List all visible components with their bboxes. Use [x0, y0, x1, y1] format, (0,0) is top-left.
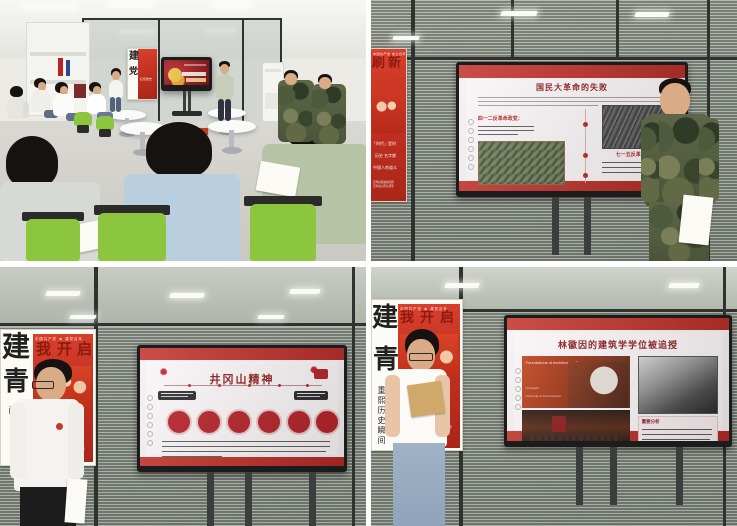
window-frame: [511, 0, 514, 58]
shelf-book: [58, 58, 63, 76]
ceiling-light: [444, 283, 480, 288]
slide-jinggangshan-spirit: 井冈山精神 ✺ ✺: [140, 348, 344, 466]
partition-frame: [82, 18, 282, 20]
slide-circle-3: [226, 409, 252, 435]
ceiling-light: [45, 291, 81, 296]
window-frame: [616, 0, 619, 58]
slide-red-banner: [164, 60, 209, 85]
badge-icon: [56, 423, 63, 430]
photo-collage: 建 党 红色党史: [0, 0, 737, 526]
presenter: [214, 61, 236, 121]
ceiling-light: [108, 2, 152, 7]
ceiling-light: [668, 283, 700, 288]
slide-bullet-dots: [147, 395, 151, 449]
seated-student: [30, 78, 52, 126]
decor-badge: [314, 369, 328, 379]
script-paper: [64, 478, 87, 523]
slide-circle-5: [286, 409, 312, 435]
student-presenter: [10, 359, 88, 526]
slide-circle-6: [314, 409, 340, 435]
window-frame: [0, 323, 366, 326]
wall-poster: 中国共产党 成立百年 刷 新 「时代」是时 历史 名字都 中国人的道义 百年征程…: [371, 48, 407, 202]
slide-analysis-box: 重要分析: [638, 416, 718, 441]
seated-student: [6, 86, 28, 132]
ceiling-light: [69, 315, 96, 319]
panel-top-right: 中国共产党 成立百年 刷 新 「时代」是时 历史 名字都 中国人的道义 百年征程…: [371, 0, 737, 261]
partition-frame: [158, 18, 160, 130]
student-presenter: [383, 329, 455, 526]
slide-tag-left: [158, 391, 196, 400]
photo-overlay-note: University of Pennsylvania: [526, 394, 561, 398]
ceiling-light: [500, 11, 538, 16]
seated-student: [52, 82, 76, 130]
chair: [22, 212, 84, 261]
slide-circle-4: [256, 409, 282, 435]
slide-bullet-dots: [468, 119, 472, 173]
shelf-book: [66, 60, 70, 76]
slide-title: 林徽因的建筑学学位被追授: [514, 338, 723, 351]
window-frame: [371, 57, 737, 60]
photo-overlay-subtitle: Lin Huiyin: [526, 386, 539, 390]
slide-circle-2: [196, 409, 222, 435]
wall-poster: 建 党 红色党史: [127, 48, 158, 100]
standing-student: [107, 68, 125, 112]
slide-small-top: [184, 64, 206, 66]
clipboard: [407, 381, 445, 417]
jeans: [393, 443, 445, 526]
slide-title-line2: [186, 78, 206, 82]
slide-photo-ceremony: [522, 410, 630, 441]
ceiling-light: [257, 315, 284, 319]
slide-circle-1: [166, 409, 192, 435]
presentation-screen: 林徽因的建筑学学位被追授 Foundations of Architecture…: [504, 315, 732, 447]
chair: [94, 205, 170, 261]
poster-calligraphy-1: 建: [2, 334, 30, 361]
slide-lin-huiyin-degree: 林徽因的建筑学学位被追授 Foundations of Architecture…: [507, 318, 729, 441]
glasses-icon: [409, 353, 433, 361]
seated-soldier: [278, 80, 314, 142]
script-paper: [679, 195, 714, 246]
slide-tag-right: [294, 391, 328, 400]
glasses-icon: [32, 381, 54, 389]
seated-soldier: [312, 84, 346, 144]
presentation-screen: [161, 57, 212, 91]
slide-section-heading: 四一二反革命政变：: [478, 115, 523, 122]
slide-photo-left: [478, 141, 565, 185]
chair: [74, 112, 94, 134]
ceiling-light: [212, 3, 252, 8]
chair: [244, 196, 322, 261]
decor-flag-icon: ✺: [159, 366, 168, 378]
slide-photo-portrait: [638, 356, 718, 414]
ceiling-light: [634, 12, 670, 17]
chair: [96, 116, 116, 138]
panel-bottom-left: 建 青 重熙历史瞬间 中国共产党 ★ 建党百年 我 开 启 更新 历史 名号曲 …: [0, 267, 366, 526]
soldier-presenter: [641, 78, 721, 261]
panel-bottom-right: 建 青 重熙历史瞬间 中国共产党 ★ 建党百年 我 开 启 更新 历史 名号 中…: [371, 267, 737, 526]
ceiling-light: [392, 36, 419, 40]
window-frame: [352, 267, 355, 526]
poster-figures: [372, 89, 404, 133]
poster-calligraphy-1: 建: [372, 306, 398, 331]
ceiling-light: [289, 289, 321, 294]
panel-top-left: 建 党 红色党史: [0, 0, 366, 261]
presentation-screen: 井冈山精神 ✺ ✺: [137, 345, 347, 472]
ceiling-light: [24, 4, 76, 9]
slide-bullet-dots: [515, 368, 519, 413]
slide-photo-lecture: Foundations of Architecture Degree Lin H…: [522, 356, 630, 408]
shelf-board: [30, 52, 86, 56]
slide-analysis-heading: 重要分析: [642, 419, 660, 425]
ceiling-light: [169, 293, 205, 298]
slide-vertical-rule: [585, 109, 586, 183]
slide-title-line1: [182, 72, 206, 76]
